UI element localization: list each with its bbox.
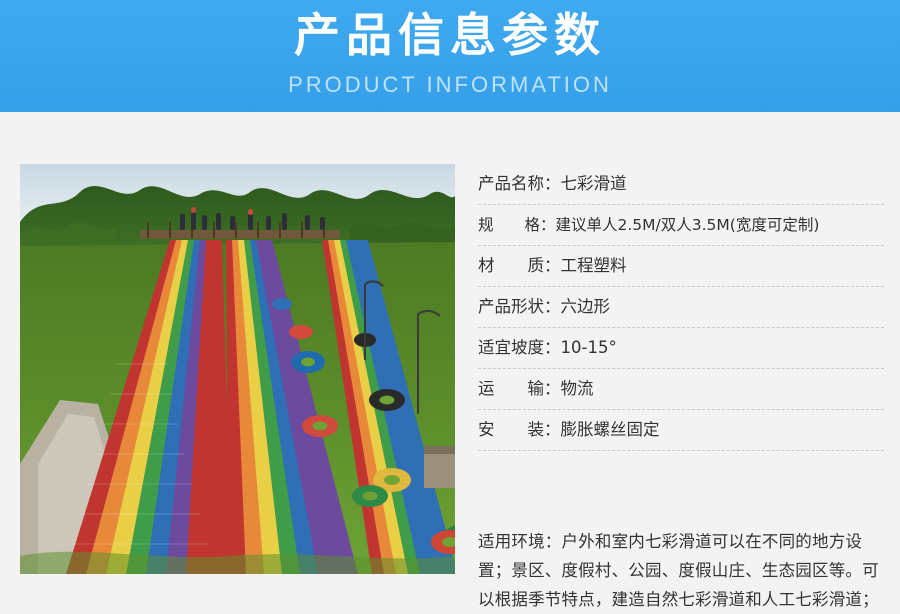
- page-header-banner: 产品信息参数 PRODUCT INFORMATION: [0, 0, 900, 112]
- spec-row: 材 质：工程塑料: [478, 246, 884, 287]
- spec-label: 适宜坡度：: [478, 338, 561, 357]
- spec-value: 六边形: [561, 297, 611, 316]
- spec-row: 运 输：物流: [478, 369, 884, 410]
- page-title-cn: 产品信息参数: [0, 6, 900, 64]
- spec-value: 建议单人2.5M/双人3.5M(宽度可定制): [556, 216, 820, 234]
- product-photo: [20, 164, 455, 574]
- spec-row: 安 装：膨胀螺丝固定: [478, 410, 884, 451]
- spec-label: 运 输：: [478, 379, 561, 398]
- page-title-en: PRODUCT INFORMATION: [0, 72, 900, 98]
- spec-value: 膨胀螺丝固定: [561, 420, 660, 439]
- spec-label: 产品形状：: [478, 297, 561, 316]
- spec-value: 工程塑料: [561, 256, 627, 275]
- spec-label: 材 质：: [478, 256, 561, 275]
- spec-label: 安 装：: [478, 420, 561, 439]
- spec-label: 产品名称：: [478, 174, 561, 193]
- environment-label: 适用环境：: [478, 532, 562, 551]
- spec-value: 10-15°: [561, 338, 617, 357]
- product-information-page: 产品信息参数 PRODUCT INFORMATION: [0, 0, 900, 577]
- spec-value: 物流: [561, 379, 594, 398]
- page-content: 产品名称：七彩滑道 规 格：建议单人2.5M/双人3.5M(宽度可定制) 材 质…: [0, 112, 900, 577]
- environment-paragraph: 适用环境：户外和室内七彩滑道可以在不同的地方设置；景区、度假村、公园、度假山庄、…: [478, 527, 890, 614]
- spec-row: 适宜坡度：10-15°: [478, 328, 884, 369]
- rainbow-slide-illustration: [20, 164, 455, 574]
- spec-value: 七彩滑道: [561, 174, 627, 193]
- spec-row: 产品名称：七彩滑道: [478, 164, 884, 205]
- spec-label: 规 格：: [478, 216, 556, 234]
- spec-row: 产品形状：六边形: [478, 287, 884, 328]
- spec-row: 规 格：建议单人2.5M/双人3.5M(宽度可定制): [478, 205, 884, 246]
- spec-list: 产品名称：七彩滑道 规 格：建议单人2.5M/双人3.5M(宽度可定制) 材 质…: [478, 164, 884, 451]
